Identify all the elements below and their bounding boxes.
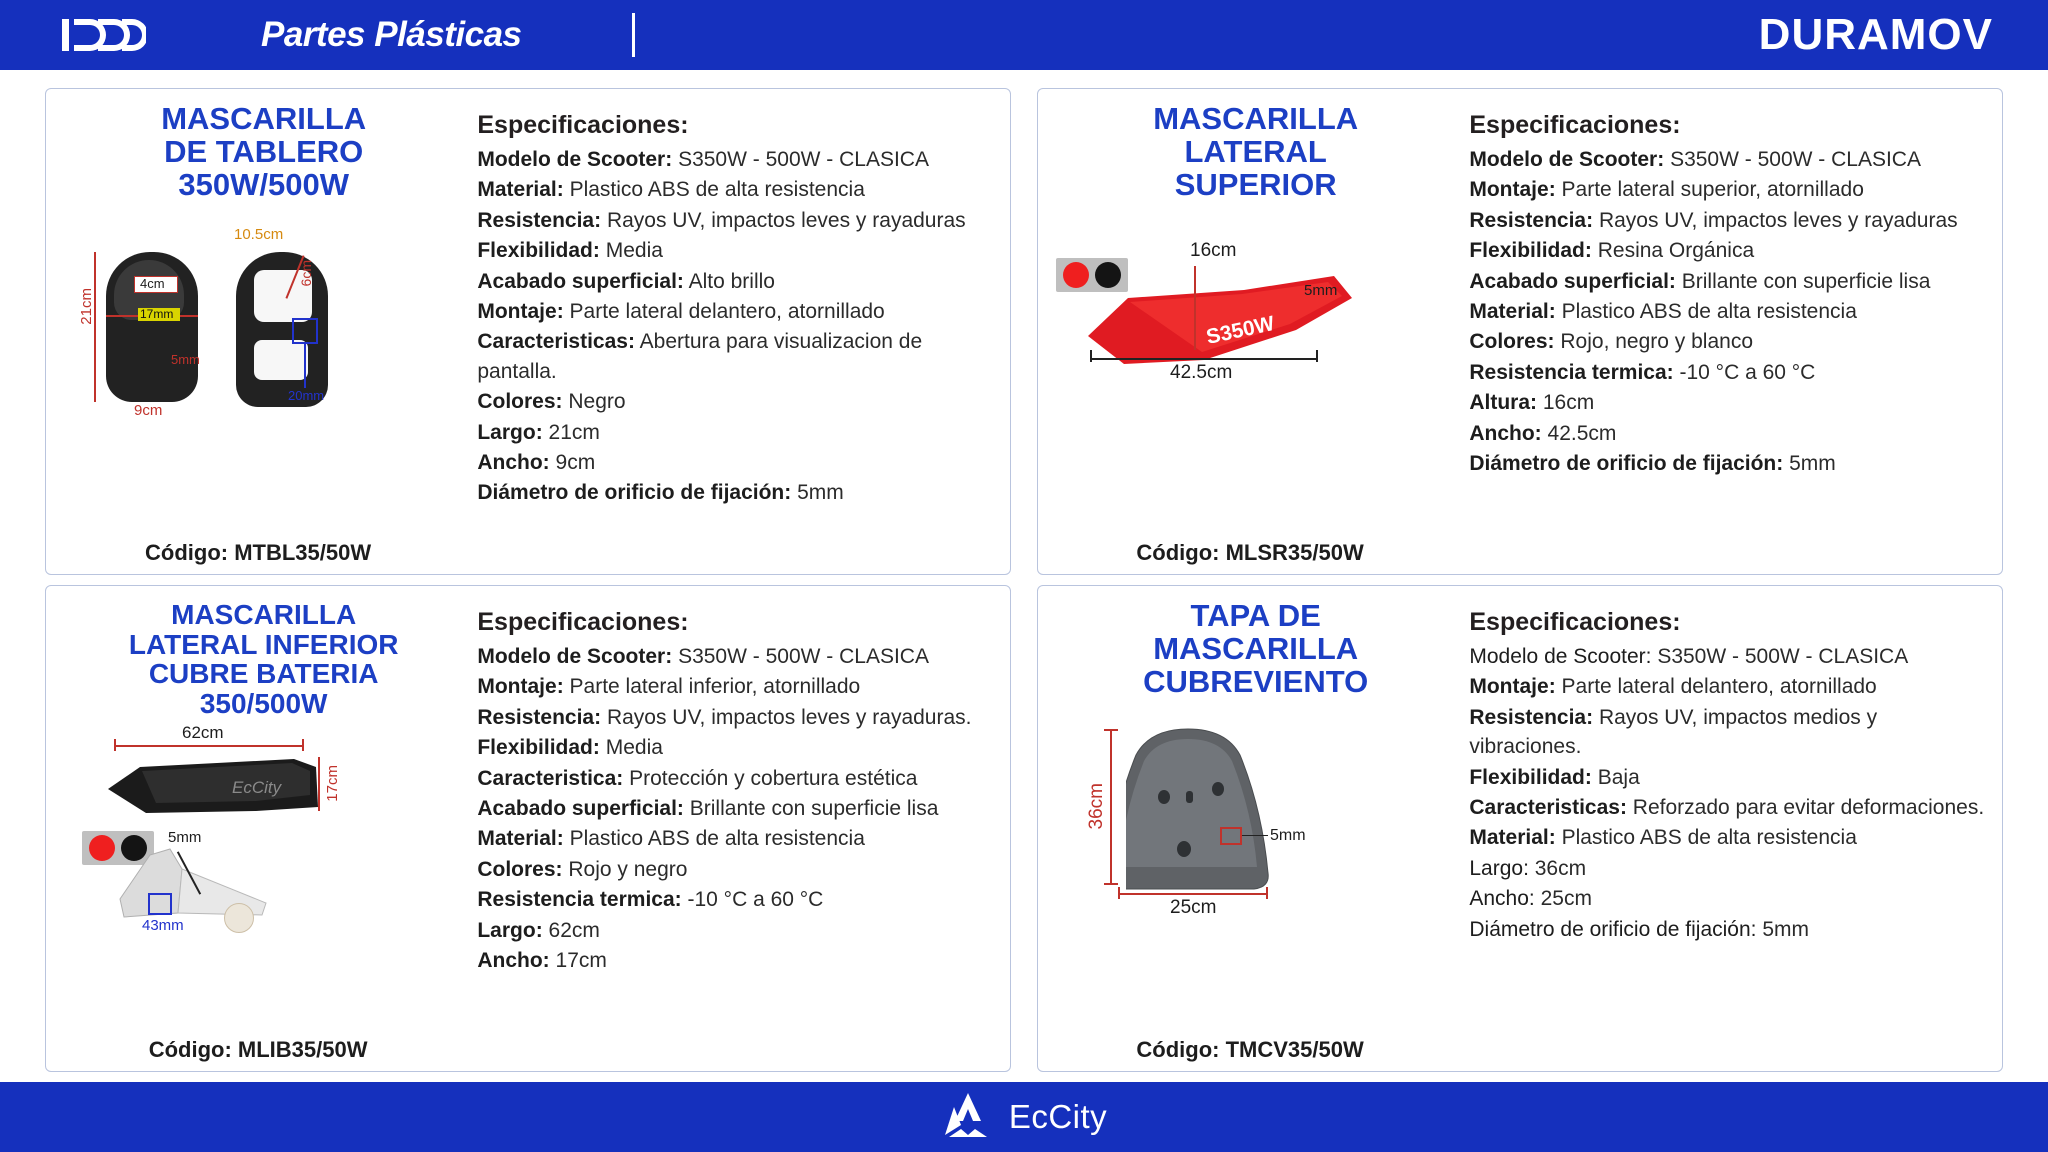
spec-value: 5mm	[1789, 452, 1836, 475]
dim-43mm: 43mm	[142, 917, 184, 934]
spec-row: Diámetro de orificio de fijación: 5mm	[1469, 449, 1992, 478]
spec-label: Largo:	[477, 919, 542, 942]
spec-value: Parte lateral delantero, atornillado	[570, 300, 885, 323]
spec-row: Acabado superficial: Alto brillo	[477, 267, 1000, 296]
spec-label: Montaje:	[1469, 675, 1555, 698]
card-left-column: MASCARILLA LATERAL INFERIOR CUBRE BATERI…	[56, 600, 471, 1063]
spec-label: Resistencia:	[477, 706, 601, 729]
spec-label: Flexibilidad:	[1469, 239, 1592, 262]
spec-row: Flexibilidad: Baja	[1469, 763, 1992, 792]
spec-row: Material: Plastico ABS de alta resistenc…	[1469, 823, 1992, 852]
spec-label: Largo:	[477, 421, 542, 444]
dim-4cm: 4cm	[140, 276, 165, 291]
spec-row: Modelo de Scooter: S350W - 500W - CLASIC…	[1469, 642, 1992, 671]
spec-row: Resistencia: Rayos UV, impactos leves y …	[477, 206, 1000, 235]
spec-row: Ancho: 25cm	[1469, 884, 1992, 913]
dim-21cm: 21cm	[78, 288, 95, 325]
card-spec-column: Especificaciones: Modelo de Scooter: S35…	[1463, 103, 1992, 566]
title-line: 350W/500W	[161, 169, 366, 202]
spec-value: Reforzado para evitar deformaciones.	[1633, 796, 1984, 819]
spec-label: Ancho:	[477, 949, 549, 972]
spec-row: Acabado superficial: Brillante con super…	[477, 794, 1000, 823]
spec-row: Montaje: Parte lateral delantero, atorni…	[477, 297, 1000, 326]
spec-row: Largo: 21cm	[477, 418, 1000, 447]
product-title: MASCARILLA LATERAL SUPERIOR	[1151, 103, 1360, 202]
spec-label: Flexibilidad:	[477, 736, 600, 759]
spec-value: 36cm	[1535, 857, 1586, 880]
spec-row: Colores: Rojo y negro	[477, 855, 1000, 884]
dim-36cm: 36cm	[1086, 783, 1108, 829]
spec-label: Montaje:	[1469, 178, 1555, 201]
spec-label: Montaje:	[477, 300, 563, 323]
title-line: SUPERIOR	[1153, 169, 1358, 202]
title-line: MASCARILLA	[161, 103, 366, 136]
spec-label: Caracteristicas:	[477, 330, 635, 353]
spec-row: Caracteristicas: Abertura para visualiza…	[477, 327, 1000, 386]
spec-value: 5mm	[1762, 918, 1809, 941]
card-spec-column: Especificaciones: Modelo de Scooter: S35…	[1463, 600, 1992, 1063]
spec-value: 5mm	[797, 481, 844, 504]
title-line: LATERAL	[1153, 136, 1358, 169]
title-line: CUBREVIENTO	[1143, 666, 1368, 699]
spec-row: Flexibilidad: Media	[477, 733, 1000, 762]
spec-value: Rayos UV, impactos leves y rayaduras	[1599, 209, 1958, 232]
catalog-page: Partes Plásticas DURAMOV MASCARILLA DE T…	[0, 0, 2048, 1152]
spec-label: Colores:	[1469, 330, 1554, 353]
spec-label: Diámetro de orificio de fijación:	[1469, 918, 1756, 941]
spec-row: Largo: 62cm	[477, 916, 1000, 945]
spec-row: Caracteristicas: Reforzado para evitar d…	[1469, 793, 1992, 822]
dim-5mm: 5mm	[1304, 282, 1337, 299]
page-footer: EcCity	[0, 1082, 2048, 1152]
spec-row: Ancho: 9cm	[477, 448, 1000, 477]
spec-row: Material: Plastico ABS de alta resistenc…	[477, 824, 1000, 853]
spec-row: Resistencia: Rayos UV, impactos leves y …	[477, 703, 1000, 732]
spec-value: S350W - 500W - CLASICA	[1670, 148, 1921, 171]
card-left-column: TAPA DE MASCARILLA CUBREVIENTO 36cm	[1048, 600, 1463, 1063]
spec-value: 9cm	[556, 451, 596, 474]
product-card-mascarilla-lateral-inferior[interactable]: MASCARILLA LATERAL INFERIOR CUBRE BATERI…	[45, 585, 1011, 1072]
spec-value: Rojo y negro	[568, 858, 687, 881]
spec-row: Colores: Rojo, negro y blanco	[1469, 327, 1992, 356]
spec-value: Brillante con superficie lisa	[690, 797, 939, 820]
spec-value: S350W - 500W - CLASICA	[678, 148, 929, 171]
spec-row: Material: Plastico ABS de alta resistenc…	[1469, 297, 1992, 326]
dim-17mm: 17mm	[140, 307, 173, 321]
spec-label: Material:	[477, 827, 563, 850]
spec-row: Ancho: 42.5cm	[1469, 419, 1992, 448]
spec-label: Acabado superficial:	[1469, 270, 1676, 293]
product-code: Código: MTBL35/50W	[46, 540, 470, 566]
spec-row: Resistencia: Rayos UV, impactos leves y …	[1469, 206, 1992, 235]
page-header: Partes Plásticas DURAMOV	[0, 0, 2048, 70]
spec-label: Diámetro de orificio de fijación:	[477, 481, 791, 504]
spec-value: 21cm	[549, 421, 600, 444]
spec-value: -10 °C a 60 °C	[687, 888, 823, 911]
product-code: Código: TMCV35/50W	[1038, 1037, 1462, 1063]
dim-42-5cm: 42.5cm	[1170, 362, 1232, 384]
spec-row: Colores: Negro	[477, 387, 1000, 416]
spec-value: Plastico ABS de alta resistencia	[1562, 300, 1857, 323]
spec-header: Especificaciones:	[477, 111, 1000, 140]
duramov-mark-icon	[60, 13, 146, 57]
spec-value: Brillante con superficie lisa	[1682, 270, 1931, 293]
spec-value: Rayos UV, impactos leves y rayaduras.	[607, 706, 972, 729]
card-spec-column: Especificaciones: Modelo de Scooter: S35…	[471, 103, 1000, 566]
spec-label: Diámetro de orificio de fijación:	[1469, 452, 1783, 475]
spec-label: Ancho:	[1469, 422, 1541, 445]
spec-label: Modelo de Scooter:	[477, 148, 672, 171]
svg-text:EcCity: EcCity	[232, 778, 283, 797]
spec-label: Caracteristicas:	[1469, 796, 1627, 819]
spec-value: S350W - 500W - CLASICA	[678, 645, 929, 668]
eccity-triangle-icon	[941, 1091, 995, 1144]
spec-value: Negro	[568, 390, 625, 413]
spec-label: Largo:	[1469, 857, 1529, 880]
spec-label: Modelo de Scooter:	[1469, 148, 1664, 171]
product-card-mascarilla-lateral-superior[interactable]: MASCARILLA LATERAL SUPERIOR 16cm S350W	[1037, 88, 2003, 575]
spec-label: Ancho:	[1469, 887, 1534, 910]
spec-value: Plastico ABS de alta resistencia	[570, 827, 865, 850]
spec-label: Material:	[477, 178, 563, 201]
spec-label: Modelo de Scooter:	[1469, 645, 1651, 668]
title-line: MASCARILLA	[1143, 633, 1368, 666]
spec-row: Flexibilidad: Media	[477, 236, 1000, 265]
card-spec-column: Especificaciones: Modelo de Scooter: S35…	[471, 600, 1000, 1063]
product-card-mascarilla-de-tablero[interactable]: MASCARILLA DE TABLERO 350W/500W 21cm 9cm…	[45, 88, 1011, 575]
product-title: MASCARILLA LATERAL INFERIOR CUBRE BATERI…	[127, 600, 401, 719]
product-title: TAPA DE MASCARILLA CUBREVIENTO	[1141, 600, 1370, 699]
spec-label: Colores:	[477, 858, 562, 881]
spec-row: Montaje: Parte lateral inferior, atornil…	[477, 672, 1000, 701]
spec-label: Montaje:	[477, 675, 563, 698]
spec-row: Resistencia: Rayos UV, impactos medios y…	[1469, 703, 1992, 762]
spec-value: S350W - 500W - CLASICA	[1657, 645, 1908, 668]
title-line: DE TABLERO	[161, 136, 366, 169]
spec-value: 16cm	[1543, 391, 1594, 414]
spec-row: Diámetro de orificio de fijación: 5mm	[1469, 915, 1992, 944]
spec-row: Resistencia termica: -10 °C a 60 °C	[1469, 358, 1992, 387]
product-image-wind-cover: 36cm 5mm 25cm	[1048, 707, 1463, 1063]
dim-17cm: 17cm	[324, 765, 341, 802]
spec-row: Caracteristica: Protección y cobertura e…	[477, 764, 1000, 793]
dim-9cm: 9cm	[134, 402, 162, 419]
spec-header: Especificaciones:	[477, 608, 1000, 637]
spec-value: Rayos UV, impactos leves y rayaduras	[607, 209, 966, 232]
spec-row: Altura: 16cm	[1469, 388, 1992, 417]
spec-label: Resistencia termica:	[477, 888, 681, 911]
spec-label: Resistencia termica:	[1469, 361, 1673, 384]
spec-value: Baja	[1598, 766, 1640, 789]
spec-label: Altura:	[1469, 391, 1537, 414]
spec-row: Modelo de Scooter: S350W - 500W - CLASIC…	[1469, 145, 1992, 174]
page-title: Partes Plásticas	[261, 15, 522, 55]
spec-row: Largo: 36cm	[1469, 854, 1992, 883]
spec-header: Especificaciones:	[1469, 608, 1992, 637]
product-image-dashboard-mask: 21cm 9cm 4cm 17mm 5mm 10.5cm 6cm	[56, 210, 471, 566]
title-line: MASCARILLA	[1153, 103, 1358, 136]
product-card-tapa-cubreviento[interactable]: TAPA DE MASCARILLA CUBREVIENTO 36cm	[1037, 585, 2003, 1072]
spec-value: 42.5cm	[1548, 422, 1617, 445]
spec-value: 17cm	[556, 949, 607, 972]
product-code: Código: MLSR35/50W	[1038, 540, 1462, 566]
spec-label: Resistencia:	[1469, 209, 1593, 232]
spec-value: Alto brillo	[689, 270, 775, 293]
spec-value: Parte lateral inferior, atornillado	[570, 675, 861, 698]
dim-5mm: 5mm	[1270, 827, 1306, 845]
spec-label: Acabado superficial:	[477, 797, 684, 820]
spec-row: Material: Plastico ABS de alta resistenc…	[477, 175, 1000, 204]
dim-5mm: 5mm	[171, 352, 200, 367]
spec-value: Parte lateral delantero, atornillado	[1562, 675, 1877, 698]
spec-value: Plastico ABS de alta resistencia	[1562, 826, 1857, 849]
spec-label: Colores:	[477, 390, 562, 413]
spec-value: Plastico ABS de alta resistencia	[570, 178, 865, 201]
spec-row: Montaje: Parte lateral delantero, atorni…	[1469, 672, 1992, 701]
spec-row: Modelo de Scooter: S350W - 500W - CLASIC…	[477, 145, 1000, 174]
card-left-column: MASCARILLA LATERAL SUPERIOR 16cm S350W	[1048, 103, 1463, 566]
header-divider	[632, 13, 635, 57]
spec-value: 25cm	[1541, 887, 1592, 910]
dim-10-5cm: 10.5cm	[234, 226, 283, 243]
spec-row: Montaje: Parte lateral superior, atornil…	[1469, 175, 1992, 204]
spec-label: Caracteristica:	[477, 767, 623, 790]
spec-label: Resistencia:	[1469, 706, 1593, 729]
spec-label: Flexibilidad:	[1469, 766, 1592, 789]
spec-value: Protección y cobertura estética	[629, 767, 917, 790]
swatch-red	[89, 835, 115, 861]
dim-20mm: 20mm	[288, 388, 324, 403]
dim-62cm: 62cm	[182, 723, 224, 743]
spec-label: Resistencia:	[477, 209, 601, 232]
spec-value: Resina Orgánica	[1598, 239, 1754, 262]
spec-label: Acabado superficial:	[477, 270, 684, 293]
spec-value: 62cm	[549, 919, 600, 942]
product-image-battery-cover: 62cm EcCity 17cm 5mm	[56, 727, 471, 1063]
title-line: TAPA DE	[1143, 600, 1368, 633]
title-line: 350/500W	[129, 689, 399, 719]
title-line: LATERAL INFERIOR	[129, 630, 399, 660]
product-grid: MASCARILLA DE TABLERO 350W/500W 21cm 9cm…	[0, 70, 2048, 1082]
spec-label: Ancho:	[477, 451, 549, 474]
spec-value: -10 °C a 60 °C	[1679, 361, 1815, 384]
dim-25cm: 25cm	[1170, 897, 1216, 919]
spec-label: Material:	[1469, 300, 1555, 323]
dim-16cm: 16cm	[1190, 240, 1236, 262]
spec-header: Especificaciones:	[1469, 111, 1992, 140]
spec-value: Media	[606, 239, 663, 262]
footer-brand-name: EcCity	[1009, 1098, 1107, 1136]
title-line: MASCARILLA	[129, 600, 399, 630]
spec-row: Flexibilidad: Resina Orgánica	[1469, 236, 1992, 265]
spec-label: Modelo de Scooter:	[477, 645, 672, 668]
brand-logo-duramov: DURAMOV	[1759, 10, 1993, 60]
spec-label: Flexibilidad:	[477, 239, 600, 262]
card-left-column: MASCARILLA DE TABLERO 350W/500W 21cm 9cm…	[56, 103, 471, 566]
spec-row: Ancho: 17cm	[477, 946, 1000, 975]
spec-row: Modelo de Scooter: S350W - 500W - CLASIC…	[477, 642, 1000, 671]
spec-value: Rojo, negro y blanco	[1560, 330, 1753, 353]
product-image-side-upper-mask: 16cm S350W 5mm 42.5cm	[1048, 210, 1463, 566]
spec-value: Media	[606, 736, 663, 759]
spec-row: Diámetro de orificio de fijación: 5mm	[477, 478, 1000, 507]
product-title: MASCARILLA DE TABLERO 350W/500W	[159, 103, 368, 202]
spec-label: Material:	[1469, 826, 1555, 849]
product-code: Código: MLIB35/50W	[46, 1037, 470, 1063]
title-line: CUBRE BATERIA	[129, 659, 399, 689]
spec-row: Resistencia termica: -10 °C a 60 °C	[477, 885, 1000, 914]
spec-value: Parte lateral superior, atornillado	[1562, 178, 1864, 201]
dim-6cm: 6cm	[298, 260, 314, 286]
spec-row: Acabado superficial: Brillante con super…	[1469, 267, 1992, 296]
